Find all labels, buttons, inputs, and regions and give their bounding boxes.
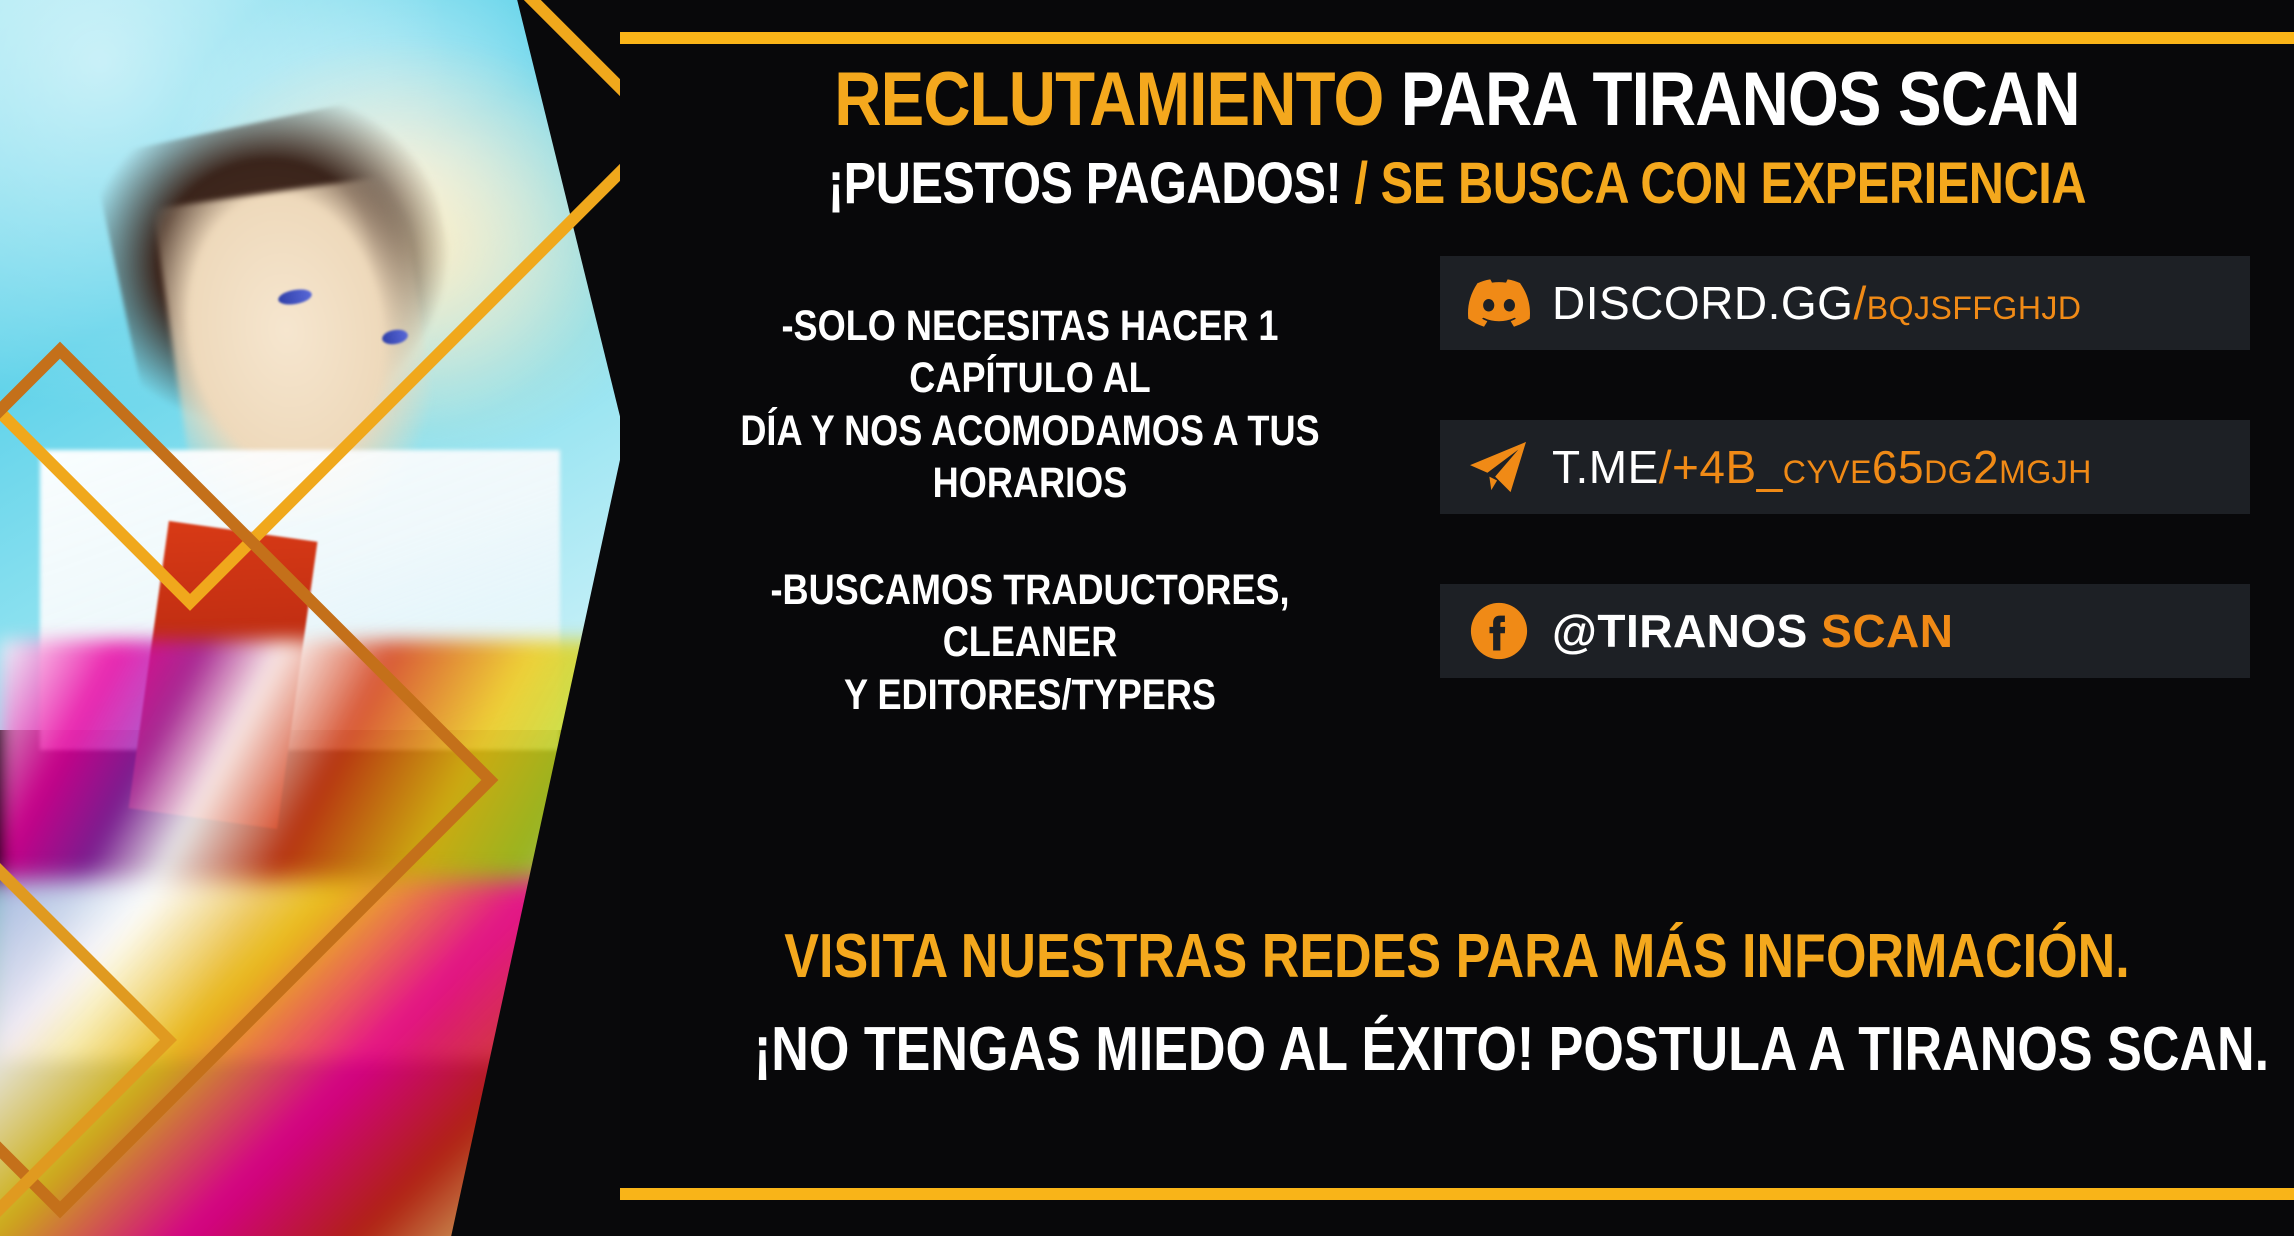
- bullet-line-2: DÍA Y NOS ACOMODAMOS A TUS HORARIOS: [719, 405, 1341, 510]
- telegram-icon: [1468, 436, 1530, 498]
- discord-contact-badge[interactable]: DISCORD.GG/bQJsFFgHJd: [1440, 256, 2250, 350]
- discord-icon: [1468, 272, 1530, 334]
- facebook-contact-badge[interactable]: @TIRANOS SCAN: [1440, 584, 2250, 678]
- facebook-icon: [1468, 600, 1530, 662]
- discord-label: DISCORD.GG/bQJsFFgHJd: [1552, 276, 2082, 330]
- cta-line-1: VISITA NUESTRAS REDES PARA MÁS INFORMACI…: [754, 910, 2160, 1003]
- bullet-line-3: -BUSCAMOS TRADUCTORES, CLEANER: [719, 564, 1341, 669]
- content-panel: RECLUTAMIENTO PARA TIRANOS SCAN ¡PUESTOS…: [620, 0, 2294, 1236]
- page-title: RECLUTAMIENTO PARA TIRANOS SCAN: [737, 60, 2177, 139]
- recruitment-banner: RECLUTAMIENTO PARA TIRANOS SCAN ¡PUESTOS…: [0, 0, 2294, 1236]
- telegram-contact-badge[interactable]: T.ME/+4B_CyVe65DG2MGJh: [1440, 420, 2250, 514]
- discord-slash: /: [1853, 277, 1866, 329]
- gold-rule-bottom: [620, 1188, 2294, 1200]
- telegram-invite-code: CyVe65DG2MGJh: [1783, 441, 2092, 493]
- requirements-list: -SOLO NECESITAS HACER 1 CAPÍTULO AL DÍA …: [719, 300, 1341, 721]
- bullet-spacer: [719, 510, 1341, 564]
- facebook-handle-suffix: SCAN: [1821, 605, 1953, 657]
- discord-invite-code: bQJsFFgHJd: [1867, 277, 2082, 329]
- gold-rule-top: [620, 32, 2294, 44]
- call-to-action: VISITA NUESTRAS REDES PARA MÁS INFORMACI…: [754, 910, 2160, 1096]
- bullet-line-1: -SOLO NECESITAS HACER 1 CAPÍTULO AL: [719, 300, 1341, 405]
- subtitle-experience: / SE BUSCA CON EXPERIENCIA: [1354, 151, 2086, 216]
- facebook-label: @TIRANOS SCAN: [1552, 604, 1953, 658]
- contact-badges: DISCORD.GG/bQJsFFgHJd T.ME/+4B_CyVe65DG2…: [1440, 256, 2250, 748]
- artwork-panel: [0, 0, 640, 1236]
- telegram-prefix: /+4B_: [1659, 441, 1783, 493]
- facebook-handle: @TIRANOS: [1552, 605, 1808, 657]
- page-subtitle: ¡PUESTOS PAGADOS! / SE BUSCA CON EXPERIE…: [754, 150, 2160, 217]
- cta-line-2: ¡NO TENGAS MIEDO AL ÉXITO! POSTULA A TIR…: [754, 1003, 2160, 1096]
- telegram-label: T.ME/+4B_CyVe65DG2MGJh: [1552, 440, 2092, 494]
- headline-rest: PARA TIRANOS SCAN: [1401, 57, 2080, 142]
- bullet-line-4: Y EDITORES/TYPERS: [719, 669, 1341, 721]
- discord-domain: DISCORD.GG: [1552, 277, 1853, 329]
- subtitle-paid-positions: ¡PUESTOS PAGADOS!: [828, 151, 1342, 216]
- headline-highlight: RECLUTAMIENTO: [834, 57, 1383, 142]
- telegram-domain: T.ME: [1552, 441, 1659, 493]
